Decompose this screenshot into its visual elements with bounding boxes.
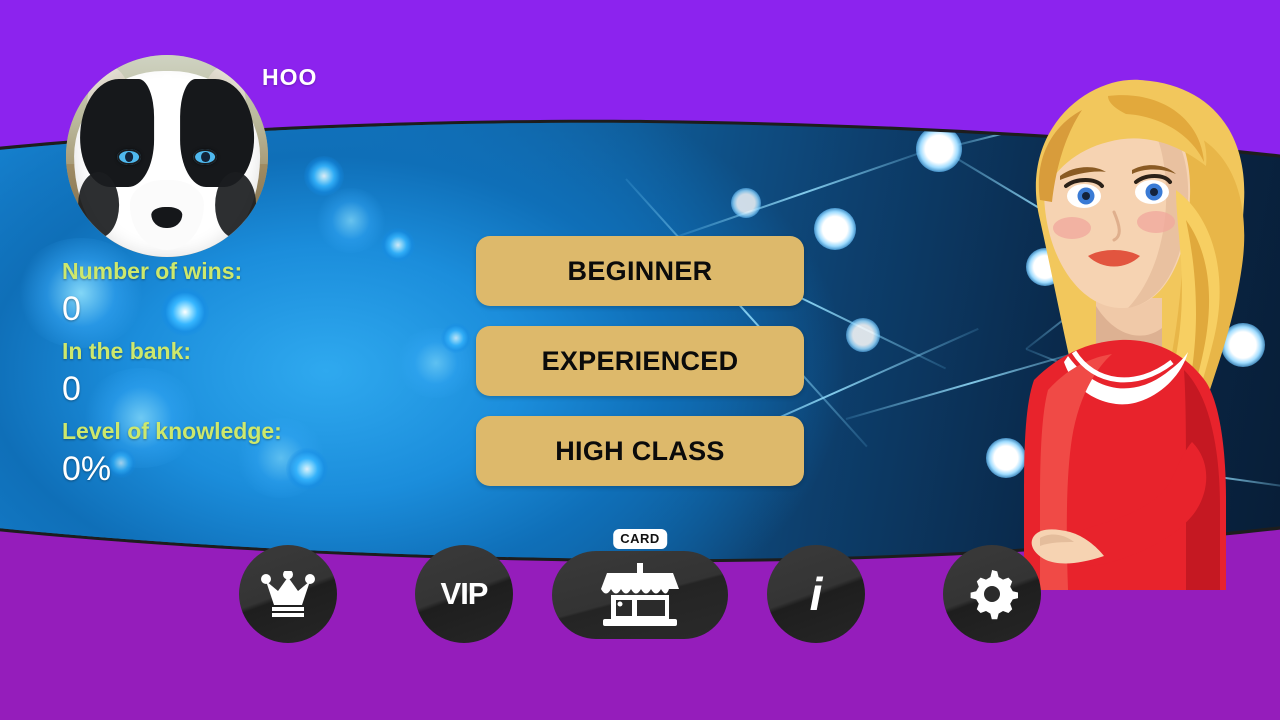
bottom-navigation: VIP CARD i [0, 545, 1280, 655]
level-selection: BEGINNER EXPERIENCED HIGH CLASS [476, 236, 804, 506]
card-sign-label: CARD [613, 529, 667, 549]
level-button-beginner[interactable]: BEGINNER [476, 236, 804, 306]
level-button-high-class[interactable]: HIGH CLASS [476, 416, 804, 486]
nav-shop-button[interactable]: CARD [552, 551, 728, 639]
shop-icon [597, 563, 683, 627]
nav-crown-button[interactable] [239, 545, 337, 643]
player-stats: Number of wins: 0 In the bank: 0 Level o… [62, 256, 442, 496]
avatar[interactable] [66, 55, 268, 257]
stat-value-wins: 0 [62, 286, 442, 332]
nav-info-button[interactable]: i [767, 545, 865, 643]
stat-label-bank: In the bank: [62, 336, 442, 366]
nav-vip-button[interactable]: VIP [415, 545, 513, 643]
vip-icon: VIP [441, 576, 488, 612]
gear-icon [966, 568, 1018, 620]
crown-icon [260, 571, 316, 617]
stat-value-knowledge: 0% [62, 446, 442, 492]
husky-avatar-photo [66, 55, 268, 257]
game-lobby-screen: HOO Number of wins: 0 In the bank: 0 Lev… [0, 0, 1280, 720]
dealer-character [948, 70, 1280, 590]
stat-label-knowledge: Level of knowledge: [62, 416, 442, 446]
nav-settings-button[interactable] [943, 545, 1041, 643]
info-icon: i [810, 571, 823, 617]
stat-value-bank: 0 [62, 366, 442, 412]
stat-label-wins: Number of wins: [62, 256, 442, 286]
player-name: HOO [262, 64, 317, 91]
level-button-experienced[interactable]: EXPERIENCED [476, 326, 804, 396]
